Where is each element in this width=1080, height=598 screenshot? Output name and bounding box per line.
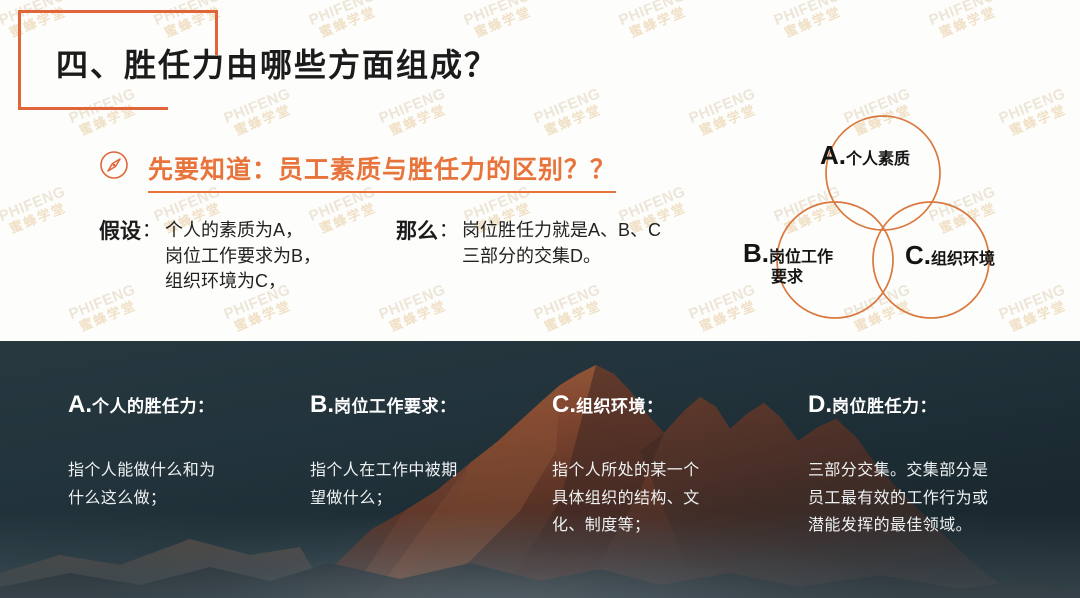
column-a-heading: A.个人的胜任力： <box>68 391 298 419</box>
venn-label-a: A.个人素质 <box>820 140 910 171</box>
definition-column-c: C.组织环境： 指个人所处的某一个 具体组织的结构、文 化、制度等； <box>552 391 782 540</box>
column-c-body: 指个人所处的某一个 具体组织的结构、文 化、制度等； <box>552 457 782 540</box>
column-d-heading: D.岗位胜任力： <box>808 391 1048 419</box>
column-b-heading: B.岗位工作要求： <box>310 391 540 419</box>
column-b-title: 岗位工作要求： <box>334 397 457 416</box>
definition-column-d: D.岗位胜任力： 三部分交集。交集部分是 员工最有效的工作行为或 潜能发挥的最佳… <box>808 391 1048 540</box>
venn-text-a: 个人素质 <box>846 151 910 168</box>
top-section: 四、胜任力由哪些方面组成？ 先要知道：员工素质与胜任力的区别？？ 假设 ： 个人… <box>0 0 1080 341</box>
assumption-colon: ： <box>142 218 161 243</box>
conclusion-colon: ： <box>439 218 458 243</box>
venn-label-c: C.组织环境 <box>905 240 995 271</box>
definition-column-a: A.个人的胜任力： 指个人能做什么和为 什么这么做； <box>68 391 298 512</box>
compass-icon <box>99 150 129 180</box>
column-a-letter: A. <box>68 391 92 418</box>
venn-diagram: A.个人素质 B.岗位工作 要求 C.组织环境 <box>735 100 1080 330</box>
slide-canvas: PHIFENG蜜蜂学堂PHIFENG蜜蜂学堂PHIFENG蜜蜂学堂PHIFENG… <box>0 0 1080 598</box>
bracket-top-edge <box>18 10 218 13</box>
venn-letter-b: B. <box>743 238 769 268</box>
venn-label-b: B.岗位工作 要求 <box>743 238 833 288</box>
column-b-letter: B. <box>310 391 334 418</box>
assumption-block: 假设 ： 个人的素质为A， 岗位工作要求为B， 组织环境为C， <box>99 218 321 295</box>
venn-letter-a: A. <box>820 140 846 170</box>
column-a-body: 指个人能做什么和为 什么这么做； <box>68 457 298 512</box>
conclusion-text: 岗位胜任力就是A、B、C 三部分的交集D。 <box>462 218 661 269</box>
column-c-title: 组织环境： <box>576 397 664 416</box>
venn-letter-c: C. <box>905 240 931 270</box>
column-a-title: 个人的胜任力： <box>92 397 215 416</box>
column-d-body: 三部分交集。交集部分是 员工最有效的工作行为或 潜能发挥的最佳领域。 <box>808 457 1048 540</box>
venn-text-b: 岗位工作 <box>769 249 833 266</box>
column-d-title: 岗位胜任力： <box>832 397 937 416</box>
definition-column-b: B.岗位工作要求： 指个人在工作中被期 望做什么； <box>310 391 540 512</box>
bracket-bottom-edge <box>18 107 168 110</box>
conclusion-block: 那么 ： 岗位胜任力就是A、B、C 三部分的交集D。 <box>396 218 661 269</box>
bracket-left-edge <box>18 10 21 110</box>
venn-text-b-line2: 要求 <box>771 269 833 288</box>
assumption-label: 假设 <box>99 218 141 246</box>
conclusion-label: 那么 <box>396 218 438 246</box>
assumption-text: 个人的素质为A， 岗位工作要求为B， 组织环境为C， <box>165 218 321 295</box>
bottom-dark-section: A.个人的胜任力： 指个人能做什么和为 什么这么做； B.岗位工作要求： 指个人… <box>0 341 1080 598</box>
column-c-heading: C.组织环境： <box>552 391 782 419</box>
venn-circles <box>735 100 1080 330</box>
section-subtitle: 先要知道：员工素质与胜任力的区别？？ <box>148 150 616 193</box>
column-c-letter: C. <box>552 391 576 418</box>
venn-text-c: 组织环境 <box>931 251 995 268</box>
page-title: 四、胜任力由哪些方面组成？ <box>56 40 498 86</box>
column-d-letter: D. <box>808 391 832 418</box>
column-b-body: 指个人在工作中被期 望做什么； <box>310 457 540 512</box>
